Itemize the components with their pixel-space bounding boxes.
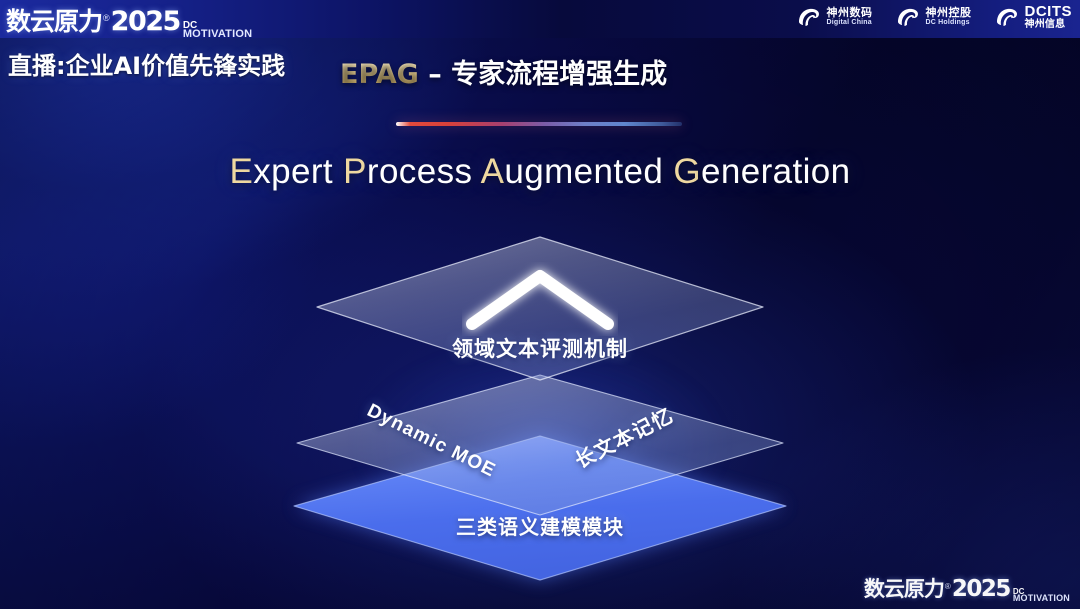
- subtitle-word-capital: E: [229, 152, 253, 191]
- watermark-subtitle: DC MOTIVATION: [1013, 588, 1070, 603]
- headline-rest: – 专家流程增强生成: [419, 59, 667, 90]
- brand-logo: 数云原力 ® 2025 DC MOTIVATION: [6, 2, 252, 42]
- subtitle-word-rest: ugmented: [504, 152, 663, 191]
- watermark-year: 2025: [952, 576, 1010, 602]
- partner-logo-group: 神州数码 Digital China 神州控股 DC Holdings: [796, 4, 1073, 30]
- partner-name-en: DC Holdings: [926, 19, 972, 26]
- subtitle-word: Generation: [673, 152, 850, 191]
- slide-subtitle-english: Expert Process Augmented Generation: [0, 152, 1080, 192]
- subtitle-word-rest: xpert: [253, 152, 333, 191]
- layer-bottom-label: 三类语义建模模块: [0, 511, 1080, 540]
- subtitle-word: Augmented: [481, 152, 664, 191]
- slide-canvas: 领域文本评测机制 Dynamic MOE 长文本记忆 三类语义建模模块 数云原力…: [0, 0, 1080, 609]
- chevron-up-icon: [462, 262, 618, 341]
- partner-name-en: 神州信息: [1025, 20, 1073, 31]
- subtitle-word: Process: [343, 152, 472, 191]
- subtitle-word-capital: A: [481, 152, 505, 191]
- gradient-divider: [396, 122, 682, 126]
- brand-subtitle: DC MOTIVATION: [183, 21, 252, 40]
- partner-name-block: 神州控股 DC Holdings: [926, 8, 972, 27]
- partner-name-en: Digital China: [827, 19, 873, 26]
- watermark-registered-mark: ®: [945, 582, 951, 591]
- brand-name-cn: 数云原力: [6, 2, 102, 38]
- epag-layer-diagram: 领域文本评测机制 Dynamic MOE 长文本记忆 三类语义建模模块: [0, 0, 1080, 609]
- subtitle-word: Expert: [229, 152, 333, 191]
- brand-registered-mark: ®: [103, 13, 110, 23]
- brand-year: 2025: [111, 6, 180, 37]
- partner-logo-dcits: DCITS 神州信息: [994, 4, 1073, 30]
- partner-logo-dc-holdings: 神州控股 DC Holdings: [895, 6, 972, 28]
- subtitle-word-rest: eneration: [701, 152, 851, 191]
- partner-name-block: 神州数码 Digital China: [827, 8, 873, 27]
- swirl-logo-icon: [994, 6, 1020, 28]
- slide-headline: EPAG – 专家流程增强生成: [340, 52, 667, 91]
- partner-name-cn: DCITS: [1025, 4, 1073, 20]
- partner-name-cn: 神州数码: [827, 8, 873, 20]
- brand-sub-line2: MOTIVATION: [183, 29, 252, 40]
- subtitle-word-capital: P: [343, 152, 367, 191]
- watermark-name-cn: 数云原力: [864, 573, 944, 603]
- subtitle-word-rest: rocess: [367, 152, 473, 191]
- partner-name-block: DCITS 神州信息: [1025, 4, 1073, 30]
- subtitle-word-capital: G: [673, 152, 701, 191]
- partner-name-cn: 神州控股: [926, 8, 972, 20]
- headline-acronym: EPAG: [340, 59, 419, 90]
- watermark-sub-line2: MOTIVATION: [1013, 594, 1070, 603]
- brand-watermark: 数云原力 ® 2025 DC MOTIVATION: [864, 573, 1070, 605]
- swirl-logo-icon: [796, 6, 822, 28]
- swirl-logo-icon: [895, 6, 921, 28]
- diagram-layer-middle[interactable]: [285, 370, 795, 525]
- session-title: 直播:企业AI价值先锋实践: [8, 46, 285, 81]
- partner-logo-digital-china: 神州数码 Digital China: [796, 6, 873, 28]
